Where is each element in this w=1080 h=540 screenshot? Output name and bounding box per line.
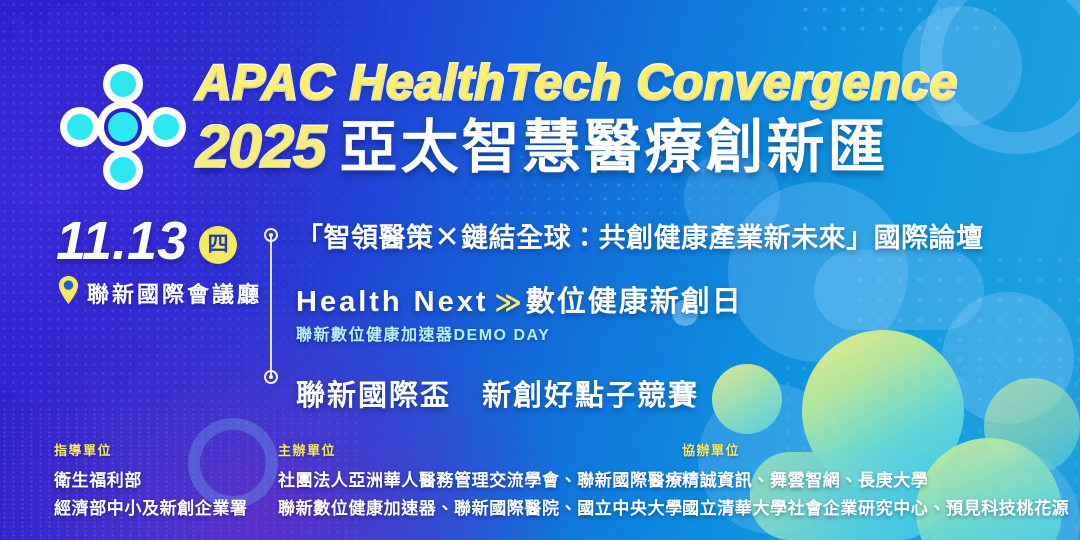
- forum-title-prefix: 「智領醫策: [296, 223, 434, 253]
- title-chinese-text: 亞太智慧醫療創新匯: [339, 115, 888, 180]
- event-banner: APAC HealthTech Convergence 2025亞太智慧醫療創新…: [0, 0, 1080, 540]
- footer-label-advisors: 指導單位: [54, 440, 248, 459]
- footer-label-hosts: 主辦單位: [278, 440, 683, 459]
- program-item-competition: 聯新國際盃 新創好點子競賽: [296, 376, 996, 416]
- timeline-stem: [270, 235, 272, 377]
- program-list: 「智領醫策✕鏈結全球：共創健康產業新未來」國際論壇 Health Next≫數位…: [296, 218, 996, 418]
- event-venue: 聯新國際會議廳: [87, 277, 262, 309]
- program-item-forum: 「智領醫策✕鏈結全球：共創健康產業新未來」國際論壇: [296, 218, 996, 258]
- footer-advisor-line-2: 經濟部中小及新創企業署: [54, 495, 248, 523]
- halftone-dots-topright: [796, 0, 996, 46]
- footer-column-advisors: 指導單位 衛生福利部 經濟部中小及新創企業署: [54, 440, 248, 523]
- cross-separator-icon: ✕: [434, 221, 462, 254]
- healthnext-chinese: 數位健康新創日: [526, 286, 743, 318]
- footer-column-hosts: 主辦單位 社團法人亞洲華人醫務管理交流學會、聯新國際醫療 聯新數位健康加速器、聯…: [278, 440, 683, 523]
- footer-advisor-line-1: 衛生福利部: [54, 467, 248, 495]
- program-item-health-next: Health Next≫數位健康新創日 聯新數位健康加速器DEMO DAY: [296, 282, 996, 348]
- footer-host-line-1: 社團法人亞洲華人醫務管理交流學會、聯新國際醫療: [278, 467, 683, 495]
- page-title-english: APAC HealthTech Convergence: [196, 54, 958, 112]
- program-competition-title: 聯新國際盃 新創好點子競賽: [296, 376, 996, 416]
- program-healthnext-title: Health Next≫數位健康新創日: [296, 282, 996, 322]
- program-timeline: [264, 228, 278, 384]
- event-venue-row: 聯新國際會議廳: [58, 276, 262, 309]
- program-healthnext-subtitle: 聯新數位健康加速器DEMO DAY: [296, 324, 996, 348]
- event-date: 11.13: [56, 212, 187, 270]
- footer-label-coorganizers: 協辦單位: [682, 440, 1069, 459]
- timeline-marker-top: [264, 228, 278, 242]
- footer-column-coorganizers: 協辦單位 精誠資訊、舞雲智網、長庚大學 國立清華大學社會企業研究中心、預見科技桃…: [682, 440, 1069, 523]
- event-date-row: 11.13 四: [56, 212, 237, 270]
- page-title-chinese: 2025亞太智慧醫療創新匯: [196, 112, 889, 183]
- footer-coorganizer-line-1: 精誠資訊、舞雲智網、長庚大學: [682, 467, 1069, 495]
- map-pin-icon: [58, 276, 79, 309]
- program-forum-title: 「智領醫策✕鏈結全球：共創健康產業新未來」國際論壇: [296, 218, 996, 258]
- forum-title-suffix: 鏈結全球：共創健康產業新未來」國際論壇: [461, 223, 984, 253]
- molecule-network-icon: [58, 62, 188, 192]
- timeline-marker-bottom: [264, 370, 278, 384]
- event-weekday-badge: 四: [199, 226, 237, 264]
- double-chevron-icon: ≫: [489, 287, 526, 317]
- healthnext-english: Health Next: [296, 286, 489, 318]
- footer-host-line-2: 聯新數位健康加速器、聯新國際醫院、國立中央大學: [278, 495, 683, 523]
- footer-organizers: 指導單位 衛生福利部 經濟部中小及新創企業署 主辦單位 社團法人亞洲華人醫務管理…: [0, 424, 1080, 540]
- footer-coorganizer-line-2: 國立清華大學社會企業研究中心、預見科技桃花源: [682, 495, 1069, 523]
- title-year: 2025: [196, 113, 325, 180]
